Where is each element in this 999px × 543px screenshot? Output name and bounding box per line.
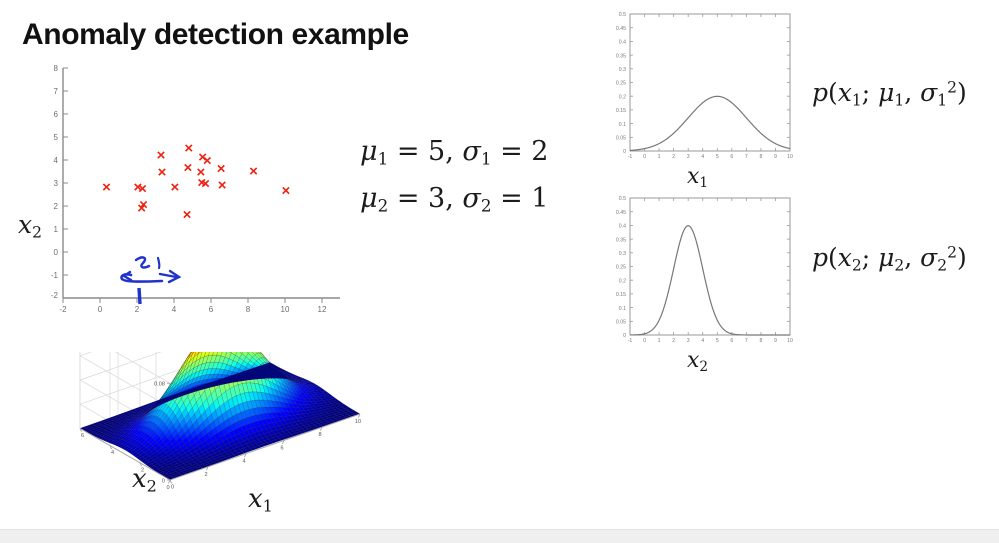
scatter-data-points: ××××××××××××××××××××	[102, 140, 290, 224]
plot-frame	[630, 198, 790, 335]
y-tick-label: 0.15	[616, 108, 626, 114]
scatter-marker: ×	[282, 183, 291, 200]
svg-text:10: 10	[281, 305, 290, 314]
scatter-x-ticks: -2 0 2 4 6 8 10 12	[59, 298, 327, 314]
svg-text:6: 6	[54, 110, 59, 119]
surface-mesh	[80, 352, 360, 480]
x1-tick-label: 10	[355, 419, 361, 425]
svg-text:7: 7	[54, 87, 59, 96]
pdf-x2-svg: 00.050.10.150.20.250.30.350.40.450.5-101…	[600, 190, 795, 345]
scatter-marker: ×	[157, 147, 166, 164]
parameters-line-2: μ2 = 3, σ2 = 1	[360, 175, 548, 222]
y-tick-label: 0	[623, 333, 626, 339]
scatter-marker: ×	[102, 179, 111, 196]
x-tick-label: -1	[628, 338, 633, 344]
x-tick-label: 1	[658, 154, 661, 160]
slide-canvas: Anomaly detection example 8 7 6 5 4 3 2 …	[0, 0, 999, 543]
scatter-marker: ×	[217, 161, 226, 178]
scatter-marker: ×	[138, 180, 147, 197]
x1-tick-label: 8	[318, 432, 321, 438]
svg-text:-2: -2	[59, 305, 67, 314]
scatter-y-ticks: 8 7 6 5 4 3 2 1 0 -1 -2	[51, 64, 68, 300]
y-tick-label: 0.3	[619, 251, 626, 257]
x-tick-label: 2	[672, 154, 675, 160]
y-tick-label: 0.35	[616, 237, 626, 243]
x-tick-label: 10	[787, 154, 793, 160]
pdf-x1-svg: 00.050.10.150.20.250.30.350.40.450.5-101…	[600, 6, 795, 161]
x-tick-label: 9	[774, 338, 777, 344]
x-tick-label: 9	[774, 154, 777, 160]
z-tick-label: 0	[162, 478, 165, 484]
svg-text:5: 5	[54, 133, 59, 142]
gaussian-curve	[630, 96, 790, 150]
y-tick-label: 0.4	[619, 40, 626, 46]
surface-x2-axis-label: x2	[132, 464, 157, 496]
scatter-marker: ×	[158, 164, 167, 181]
svg-text:12: 12	[318, 305, 327, 314]
x2-tick-label: 6	[81, 433, 84, 439]
x-tick-label: 6	[730, 338, 733, 344]
x1-tick-label: 2	[204, 472, 207, 478]
scatter-y-axis-label: x2	[18, 210, 42, 241]
svg-text:-2: -2	[51, 291, 59, 300]
x-tick-label: 5	[716, 154, 719, 160]
scatter-marker: ×	[184, 140, 193, 157]
surface-plot-panel: 00.020.040.060.0802468100246 x2 x1	[52, 352, 382, 542]
parameters-line-1: μ1 = 5, σ1 = 2	[360, 128, 548, 175]
x-tick-label: 2	[672, 338, 675, 344]
y-tick-label: 0.05	[616, 136, 626, 142]
svg-text:2: 2	[135, 305, 140, 314]
pdf-x1-expression: p(x1; μ1, σ12)	[812, 78, 967, 109]
page-title: Anomaly detection example	[22, 18, 409, 52]
x-tick-label: 4	[701, 338, 704, 344]
pdf-x2-panel: 00.050.10.150.20.250.30.350.40.450.5-101…	[600, 190, 795, 355]
y-tick-label: 0.1	[619, 122, 626, 128]
y-tick-label: 0.05	[616, 320, 626, 326]
x-tick-label: 3	[687, 154, 690, 160]
svg-text:0: 0	[54, 248, 59, 257]
surface-x1-axis-label: x1	[248, 484, 273, 516]
x2-tick-label: 4	[111, 450, 114, 456]
svg-text:6: 6	[209, 305, 214, 314]
y-tick-label: 0.25	[616, 265, 626, 271]
pdf-x1-panel: 00.050.10.150.20.250.30.350.40.450.5-101…	[600, 6, 795, 171]
y-tick-label: 0.5	[619, 12, 626, 18]
blue-arrow-annotation	[121, 257, 179, 282]
scatter-marker: ×	[218, 177, 227, 194]
surface-plot-svg: 00.020.040.060.0802468100246	[52, 352, 382, 542]
svg-text:4: 4	[172, 305, 177, 314]
x-tick-label: 4	[701, 154, 704, 160]
svg-text:1: 1	[54, 225, 59, 234]
y-tick-label: 0.5	[619, 196, 626, 202]
scatter-marker: ×	[171, 179, 180, 196]
svg-text:8: 8	[246, 305, 251, 314]
pdf-x2-axis-label: x2	[600, 348, 795, 375]
y-tick-label: 0.2	[619, 94, 626, 100]
svg-text:3: 3	[54, 179, 59, 188]
pdf-x1-axis-label: x1	[600, 164, 795, 191]
svg-text:4: 4	[54, 156, 59, 165]
x1-tick-label: 6	[280, 445, 283, 451]
z-tick-label: 0.08	[154, 382, 165, 388]
video-player-strip[interactable]	[0, 529, 999, 543]
x-tick-label: -1	[628, 154, 633, 160]
x2-tick-label: 0	[171, 485, 174, 491]
y-tick-label: 0.15	[616, 292, 626, 298]
y-tick-label: 0.25	[616, 81, 626, 87]
y-tick-label: 0.45	[616, 26, 626, 32]
scatter-plot-panel: 8 7 6 5 4 3 2 1 0 -1 -2 -2 0 2 4 6 8 10	[10, 60, 355, 330]
x-tick-label: 5	[716, 338, 719, 344]
x-tick-label: 6	[730, 154, 733, 160]
pdf-x2-expression: p(x2; μ2, σ22)	[812, 243, 967, 274]
parameters-block: μ1 = 5, σ1 = 2 μ2 = 3, σ2 = 1	[360, 128, 548, 223]
x-tick-label: 0	[643, 154, 646, 160]
scatter-marker: ×	[183, 160, 192, 177]
svg-text:-1: -1	[51, 271, 59, 280]
blue-axis-tick-mark	[139, 288, 140, 304]
x-tick-label: 7	[745, 154, 748, 160]
scatter-marker: ×	[137, 200, 146, 217]
y-tick-label: 0.35	[616, 53, 626, 59]
gaussian-curve	[630, 226, 790, 335]
y-tick-label: 0.1	[619, 306, 626, 312]
plot-frame	[630, 14, 790, 151]
scatter-marker: ×	[249, 163, 258, 180]
scatter-marker: ×	[201, 176, 210, 193]
x1-tick-label: 0	[166, 485, 169, 491]
svg-text:8: 8	[54, 64, 59, 73]
x-tick-label: 0	[643, 338, 646, 344]
x-tick-label: 10	[787, 338, 793, 344]
x-tick-label: 8	[759, 154, 762, 160]
y-tick-label: 0.45	[616, 210, 626, 216]
svg-text:0: 0	[98, 305, 103, 314]
x-tick-label: 1	[658, 338, 661, 344]
scatter-marker: ×	[183, 207, 192, 224]
y-tick-label: 0	[623, 149, 626, 155]
y-tick-label: 0.4	[619, 224, 626, 230]
x-tick-label: 3	[687, 338, 690, 344]
scatter-plot-svg: 8 7 6 5 4 3 2 1 0 -1 -2 -2 0 2 4 6 8 10	[10, 60, 355, 330]
y-tick-label: 0.3	[619, 67, 626, 73]
svg-text:2: 2	[54, 202, 59, 211]
x-tick-label: 7	[745, 338, 748, 344]
x-tick-label: 8	[759, 338, 762, 344]
y-tick-label: 0.2	[619, 278, 626, 284]
x1-tick-label: 4	[242, 459, 245, 465]
